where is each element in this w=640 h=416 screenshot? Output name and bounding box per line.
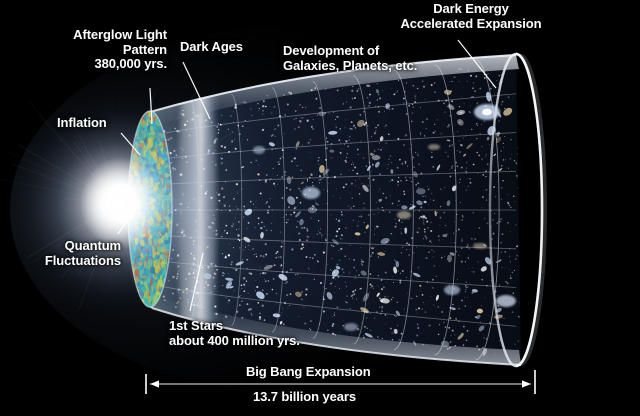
big-bang-diagram: Afterglow Light Pattern 380,000 yrs. Dar… bbox=[0, 0, 640, 416]
label-quantum-fluctuations: Quantum Fluctuations bbox=[45, 239, 121, 268]
label-duration: 13.7 billion years bbox=[253, 390, 356, 405]
label-inflation: Inflation bbox=[57, 116, 107, 131]
label-first-stars: 1st Stars about 400 million yrs. bbox=[169, 319, 300, 348]
label-development: Development of Galaxies, Planets, etc. bbox=[283, 44, 417, 73]
label-dark-energy: Dark Energy Accelerated Expansion bbox=[383, 2, 559, 31]
label-dark-ages: Dark Ages bbox=[180, 40, 243, 55]
label-big-bang-expansion: Big Bang Expansion bbox=[246, 365, 371, 380]
label-afterglow-light: Afterglow Light Pattern 380,000 yrs. bbox=[73, 28, 167, 72]
